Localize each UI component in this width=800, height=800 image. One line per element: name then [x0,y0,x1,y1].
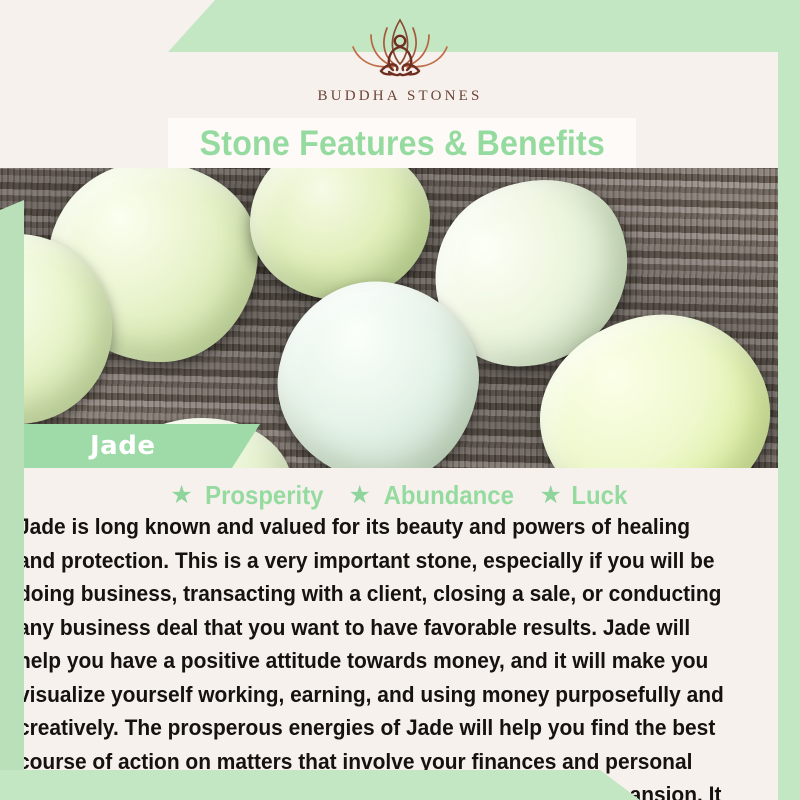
stone-name: Jade [90,431,155,461]
stone-name-band: Jade [0,424,260,468]
frame-right-band [778,0,800,800]
benefit-item-2: ★ Luck [539,480,629,511]
brand-logo: BUDDHA STONES [0,14,800,105]
benefit-label: Abundance [384,480,514,511]
benefit-label: Prosperity [205,480,323,511]
page-title: Stone Features & Benefits [199,126,604,161]
frame-left-band [0,200,24,780]
star-icon: ★ [170,483,192,508]
brand-name: BUDDHA STONES [317,88,482,105]
stone-description: Jade is long known and valued for its be… [18,510,729,800]
lotus-meditation-icon [325,14,475,82]
frame-bottom-band [0,770,640,800]
benefit-label: Luck [571,480,627,511]
benefit-item-1: ★ Abundance [348,480,519,511]
star-icon: ★ [539,483,561,508]
star-icon: ★ [348,483,370,508]
stone-photo [0,168,800,468]
benefit-item-0: ★ Prosperity [170,480,328,511]
stone-5 [265,269,491,468]
title-banner: Stone Features & Benefits [168,118,636,168]
benefits-row: ★ Prosperity ★ Abundance ★ Luck [0,478,800,512]
infographic-card: BUDDHA STONES Stone Features & Benefits [0,0,800,800]
